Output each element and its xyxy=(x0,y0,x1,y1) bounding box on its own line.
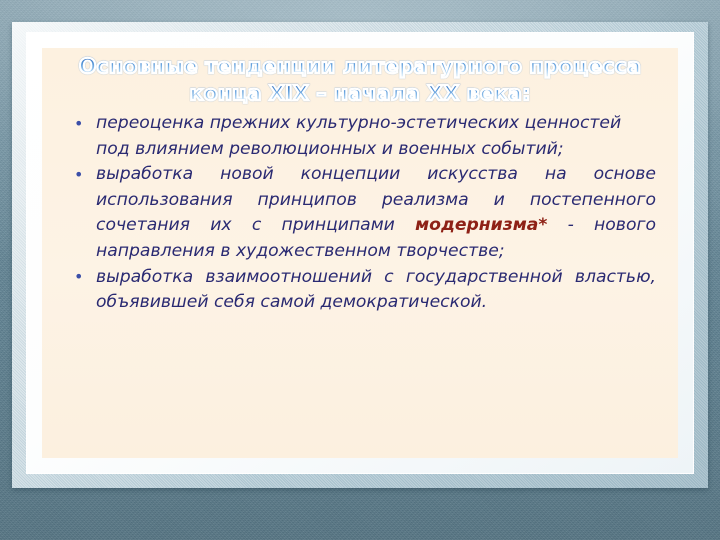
list-item: выработка новой концепции искусства на о… xyxy=(72,162,656,264)
presentation-slide: Основные тенденции литературного процесс… xyxy=(0,0,720,540)
bullet-list: переоценка прежних культурно-эстетически… xyxy=(42,111,678,316)
slide-title: Основные тенденции литературного процесс… xyxy=(42,48,678,107)
list-item: выработка взаимоотношений с государствен… xyxy=(72,265,656,316)
bullet-2-accent-term: модернизма* xyxy=(415,215,547,235)
bullet-1-text: переоценка прежних культурно-эстетически… xyxy=(96,113,621,159)
slide-frame-outer-mat: Основные тенденции литературного процесс… xyxy=(12,22,708,488)
slide-frame-inner-mat: Основные тенденции литературного процесс… xyxy=(26,32,694,474)
list-item: переоценка прежних культурно-эстетически… xyxy=(72,111,656,162)
bullet-3-text: выработка взаимоотношений с государствен… xyxy=(96,267,656,313)
slide-title-line-1: Основные тенденции литературного процесс… xyxy=(60,53,660,80)
slide-title-line-2: конца XIX – начала XX века: xyxy=(60,80,660,107)
slide-content-area: Основные тенденции литературного процесс… xyxy=(42,48,678,458)
